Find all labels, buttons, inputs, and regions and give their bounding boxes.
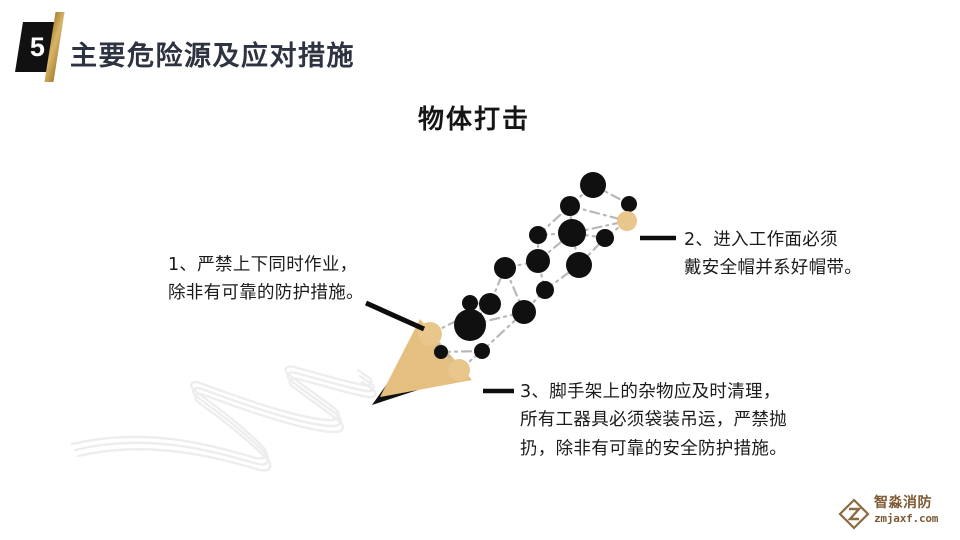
network-node [566, 252, 592, 278]
logo-diamond-icon [838, 498, 870, 530]
subject-title: 物体打击 [418, 99, 530, 136]
network-node [462, 295, 478, 311]
network-node [560, 196, 580, 216]
network-links [430, 185, 629, 370]
network-node [434, 345, 448, 359]
annotation-note-3: 3、脚手架上的杂物应及时清理， 所有工器具必须袋装吊运，严禁抛 扔，除非有可靠的… [520, 378, 860, 463]
network-node [512, 300, 536, 324]
network-node [479, 293, 501, 315]
leader-lines [366, 238, 676, 391]
network-node [536, 281, 554, 299]
annotation-note-1: 1、严禁上下同时作业， 除非有可靠的防护措施。 [168, 251, 408, 308]
network-node [474, 343, 490, 359]
slide-header: 5 主要危险源及应对措施 [0, 0, 960, 96]
network-node [454, 309, 486, 341]
network-node [526, 249, 550, 273]
network-node [529, 226, 547, 244]
pencil-tip [372, 360, 430, 405]
network-nodes [418, 172, 637, 381]
network-node-accent [448, 359, 470, 381]
slide-root: 5 主要危险源及应对措施 物体打击 [0, 0, 960, 540]
network-node-accent [617, 211, 637, 231]
network-node [621, 196, 637, 212]
section-number: 5 [30, 34, 45, 61]
network-node [494, 257, 516, 279]
page-title: 主要危险源及应对措施 [70, 34, 355, 73]
network-node [558, 219, 586, 247]
brand-logo: 智淼消防 zmjaxf.com [838, 496, 953, 534]
network-node [580, 172, 606, 198]
logo-company-name: 智淼消防 [874, 496, 938, 511]
network-node-accent [418, 322, 442, 346]
network-node [596, 229, 614, 247]
scribble-trail [72, 367, 375, 471]
pencil-body [380, 319, 472, 397]
logo-website-url: zmjaxf.com [874, 512, 938, 525]
logo-text-block: 智淼消防 zmjaxf.com [874, 496, 938, 525]
annotation-note-2: 2、进入工作面必须 戴安全帽并系好帽带。 [684, 226, 914, 283]
